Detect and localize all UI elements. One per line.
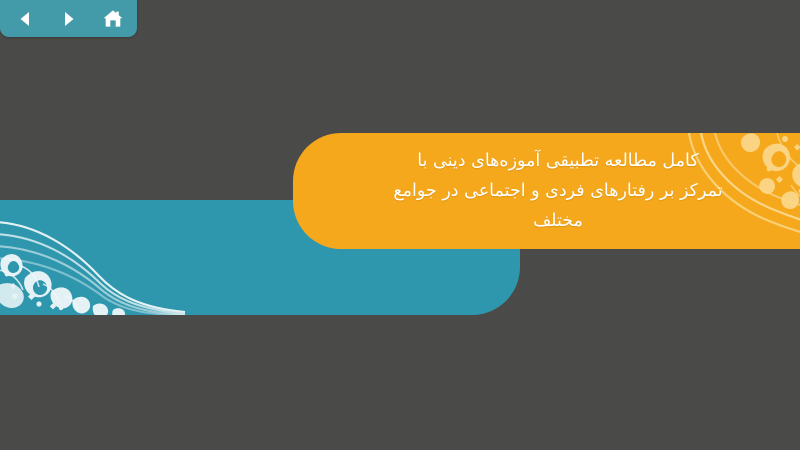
back-button[interactable] bbox=[12, 6, 38, 32]
forward-button[interactable] bbox=[56, 6, 82, 32]
navigation-toolbar[interactable] bbox=[0, 0, 137, 37]
back-icon bbox=[15, 9, 35, 29]
orange-title-band: کامل مطالعه تطبیقی آموزه‌های دینی با تمر… bbox=[293, 133, 800, 249]
teal-arabesque-ornament bbox=[0, 200, 185, 315]
forward-icon bbox=[59, 9, 79, 29]
home-icon bbox=[102, 8, 124, 30]
slide-viewer: کامل مطالعه تطبیقی آموزه‌های دینی با تمر… bbox=[0, 0, 800, 450]
slide-title: کامل مطالعه تطبیقی آموزه‌های دینی با تمر… bbox=[338, 146, 778, 236]
home-button[interactable] bbox=[100, 6, 126, 32]
